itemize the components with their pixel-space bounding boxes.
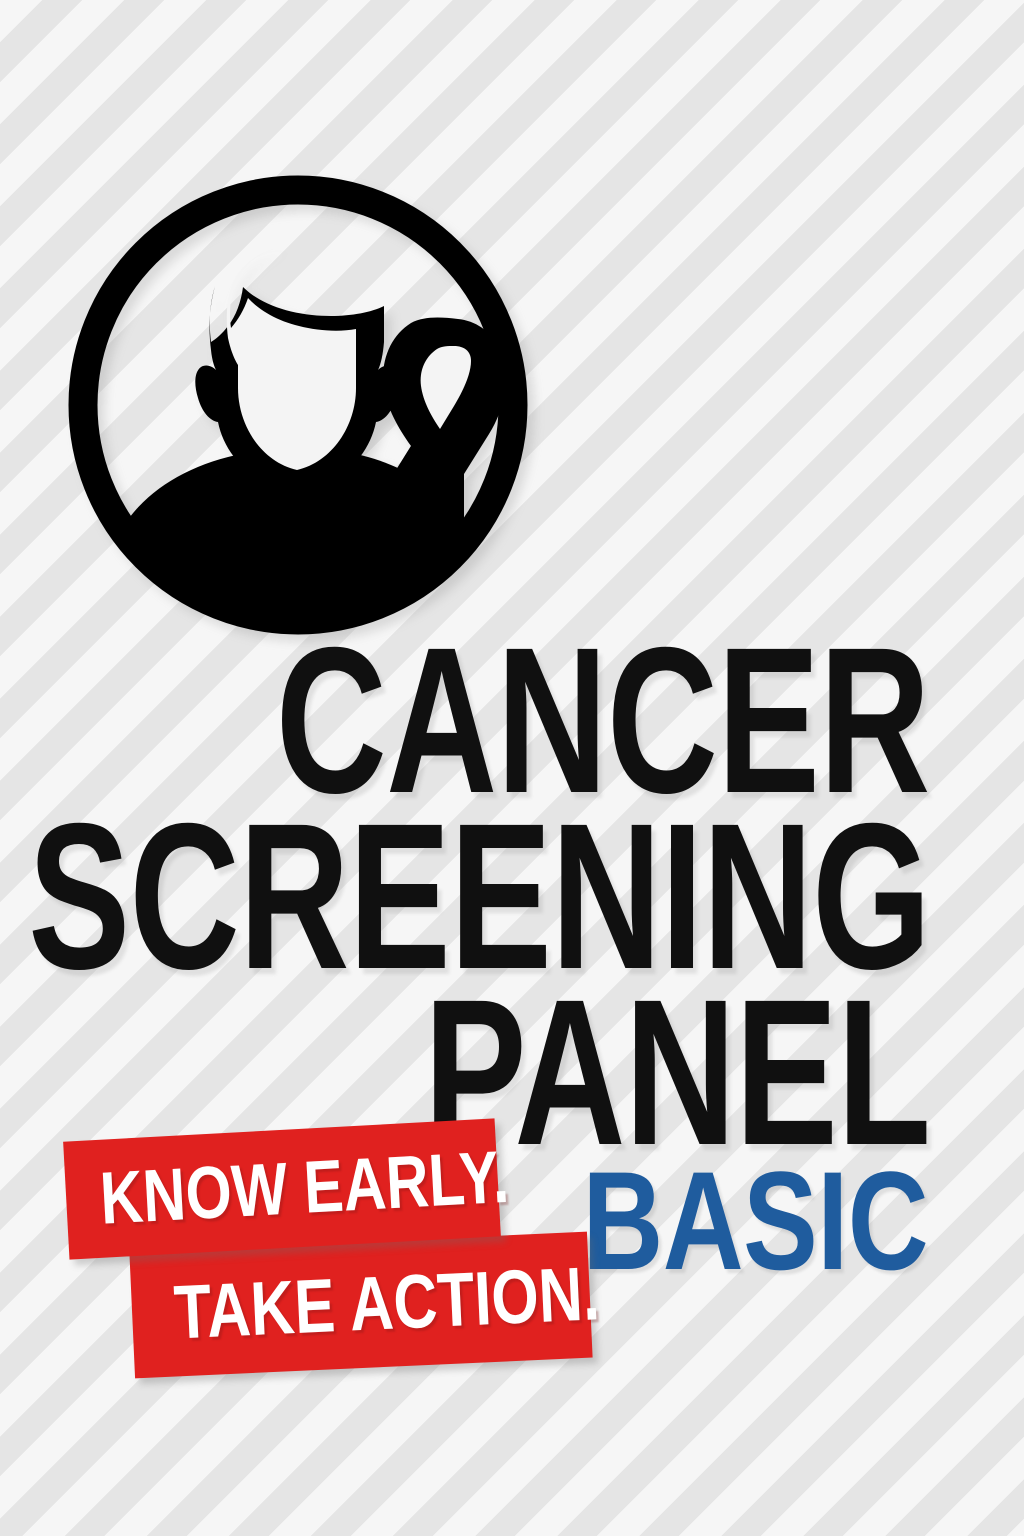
tagline-banner-take-action: TAKE ACTION. — [129, 1232, 592, 1379]
tagline-banner-know-early: KNOW EARLY. — [63, 1118, 501, 1259]
tagline-banner-know-early-text: KNOW EARLY. — [98, 1140, 510, 1236]
poster-canvas: CANCER SCREENING PANEL BASIC KNOW EARLY.… — [0, 0, 1024, 1536]
tier-label: BASIC — [582, 1164, 928, 1279]
tagline-banner-take-action-text: TAKE ACTION. — [172, 1256, 601, 1351]
headline-line-3: PANEL — [424, 988, 930, 1159]
